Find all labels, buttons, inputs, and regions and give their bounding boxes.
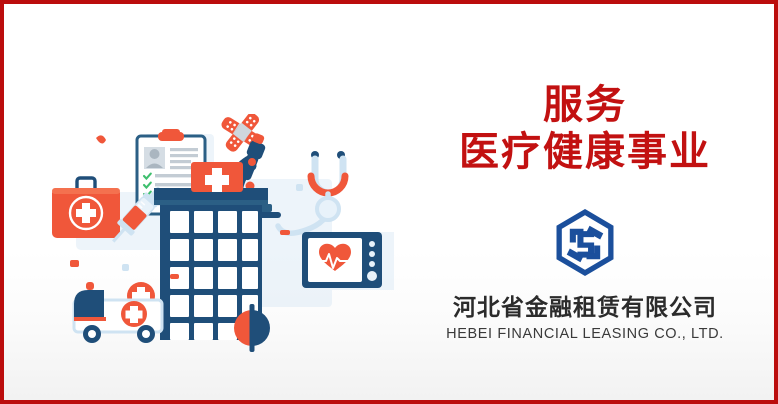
hebei-financial-leasing-hexagon-logo bbox=[547, 206, 623, 282]
medical-healthcare-illustration bbox=[34, 114, 394, 354]
right-content-column: 服务 医疗健康事业 bbox=[396, 4, 774, 400]
headline-line-2: 医疗健康事业 bbox=[459, 129, 711, 176]
company-logo-block: 河北省金融租赁有限公司 HEBEI FINANCIAL LEASING CO.,… bbox=[446, 206, 724, 342]
headline-block: 服务 医疗健康事业 bbox=[459, 82, 711, 176]
heart-rate-monitor-icon bbox=[302, 232, 382, 288]
promotional-banner: 服务 医疗健康事业 bbox=[0, 0, 778, 404]
company-name-chinese: 河北省金融租赁有限公司 bbox=[453, 288, 717, 322]
first-aid-kit-icon bbox=[52, 178, 120, 238]
company-name-english: HEBEI FINANCIAL LEASING CO., LTD. bbox=[446, 326, 724, 342]
headline-line-1: 服务 bbox=[459, 82, 711, 129]
